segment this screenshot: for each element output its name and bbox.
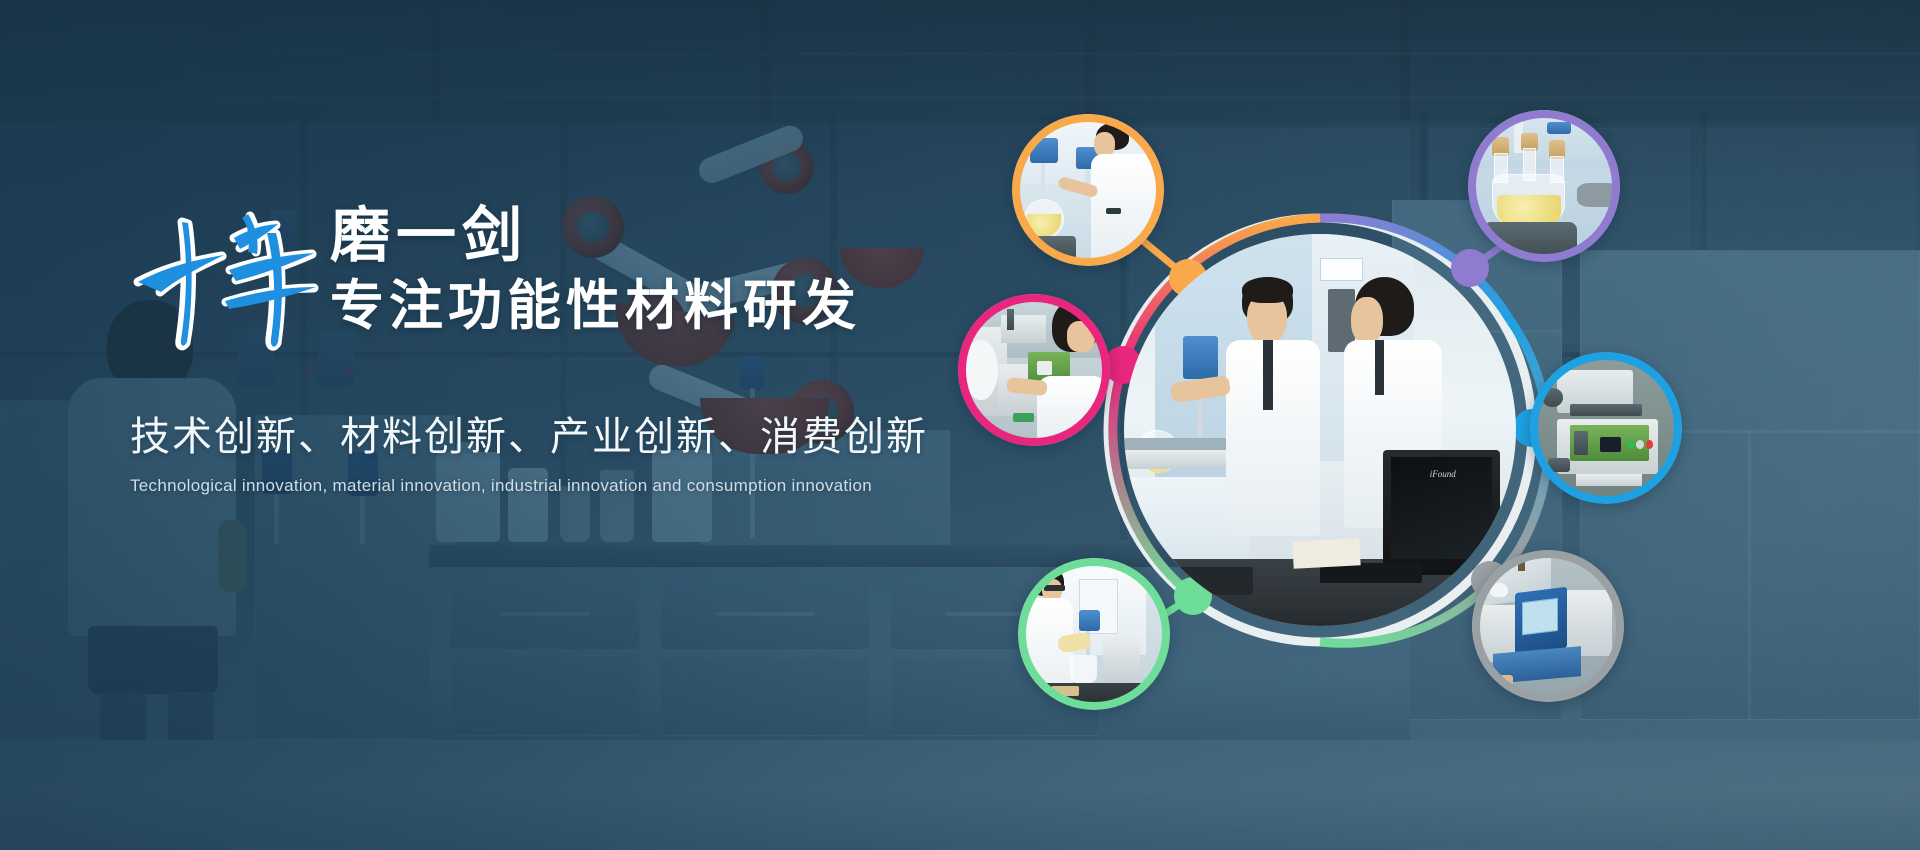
wall-label — [1320, 258, 1363, 282]
satellite-photo — [1530, 352, 1682, 504]
scientist-1-hairline — [1242, 277, 1293, 302]
scientist-1-collar — [1263, 340, 1272, 411]
background-wall — [1468, 110, 1620, 168]
second-heating-well — [1577, 183, 1620, 207]
handle-knob — [1548, 458, 1569, 472]
machine-base — [1576, 474, 1643, 486]
photo-scene — [1468, 110, 1620, 262]
circular-photo-diagram: iFound — [1000, 110, 1640, 750]
paper-documents — [1292, 538, 1360, 569]
hero-banner: 磨一剑 专注功能性材料研发 技术创新、材料创新、产业创新、消费创新 Techno… — [0, 0, 1920, 850]
mouse-pad — [1167, 567, 1253, 594]
brush-calligraphy-shinian — [130, 200, 340, 360]
technician-lab-coat — [1037, 376, 1107, 446]
lab-bench-edge — [1124, 438, 1242, 450]
headline-line-1: 磨一剑 — [330, 204, 861, 269]
machine-post — [1007, 309, 1015, 330]
headline-row: 磨一剑 专注功能性材料研发 — [130, 200, 890, 350]
photo-scene — [1018, 558, 1170, 710]
lab-equipment — [1103, 637, 1139, 683]
scientist-2-face — [1351, 297, 1382, 344]
headline-text: 磨一剑 专注功能性材料研发 — [330, 204, 861, 337]
headline-line-2: 专注功能性材料研发 — [330, 275, 861, 337]
photo-scene — [1012, 114, 1164, 266]
subtitle-english: Technological innovation, material innov… — [130, 476, 890, 496]
satellite-photo — [1468, 110, 1620, 262]
hub-lab-team-photo: iFound — [1124, 234, 1516, 626]
stirrer-clamp — [1547, 122, 1571, 134]
probe-arm — [1518, 550, 1526, 571]
digital-display — [1600, 437, 1621, 452]
satellite-photo — [958, 294, 1110, 446]
screen-area — [1522, 598, 1558, 636]
sample-tray — [1051, 686, 1078, 697]
overhead-stirrer — [1183, 336, 1218, 379]
technician-face — [1094, 132, 1115, 156]
display — [1037, 361, 1052, 375]
satellite-coating-prep — [1018, 558, 1170, 710]
overhead-stirrer — [1079, 610, 1100, 631]
photo-scene — [1530, 352, 1682, 504]
satellite-analysis-instrument — [1472, 550, 1624, 702]
dial-knob — [1574, 431, 1588, 455]
stirrer-shaft — [1041, 163, 1046, 203]
subtitle-chinese: 技术创新、材料创新、产业创新、消费创新 — [130, 404, 890, 462]
bench-instrument — [1124, 450, 1226, 470]
satellite-photo — [1012, 114, 1164, 266]
safety-glasses — [1044, 585, 1065, 591]
machine-wheel — [1542, 388, 1563, 406]
film-reel — [964, 340, 997, 401]
scientist-1-lab-coat — [1226, 340, 1320, 536]
satellite-photo — [1018, 558, 1170, 710]
sample-vial — [1499, 675, 1513, 690]
wristwatch — [1106, 208, 1121, 214]
satellite-photo — [1472, 550, 1624, 702]
sample-dish — [1490, 583, 1508, 597]
satellite-film-winder — [958, 294, 1110, 446]
heating-mantle — [1021, 236, 1076, 263]
heating-bath — [1483, 222, 1577, 262]
photo-scene — [1472, 550, 1624, 702]
technician-lab-coat — [1091, 154, 1161, 266]
monitor-brand-label: iFound — [1430, 469, 1485, 485]
satellite-three-neck-flask — [1468, 110, 1620, 262]
overhead-stirrer — [1030, 138, 1057, 162]
scientist-2-collar — [1375, 340, 1384, 395]
technician-face — [1067, 321, 1094, 351]
beaker — [1070, 655, 1097, 682]
hero-text-block: 磨一剑 专注功能性材料研发 技术创新、材料创新、产业创新、消费创新 Techno… — [130, 200, 890, 496]
photo-scene — [958, 294, 1110, 446]
satellite-reaction-vessel — [1012, 114, 1164, 266]
satellite-testing-machine — [1530, 352, 1682, 504]
machine-rail — [1570, 404, 1643, 416]
green-indicator — [1013, 413, 1034, 422]
hub-photo-scene: iFound — [1124, 234, 1516, 626]
